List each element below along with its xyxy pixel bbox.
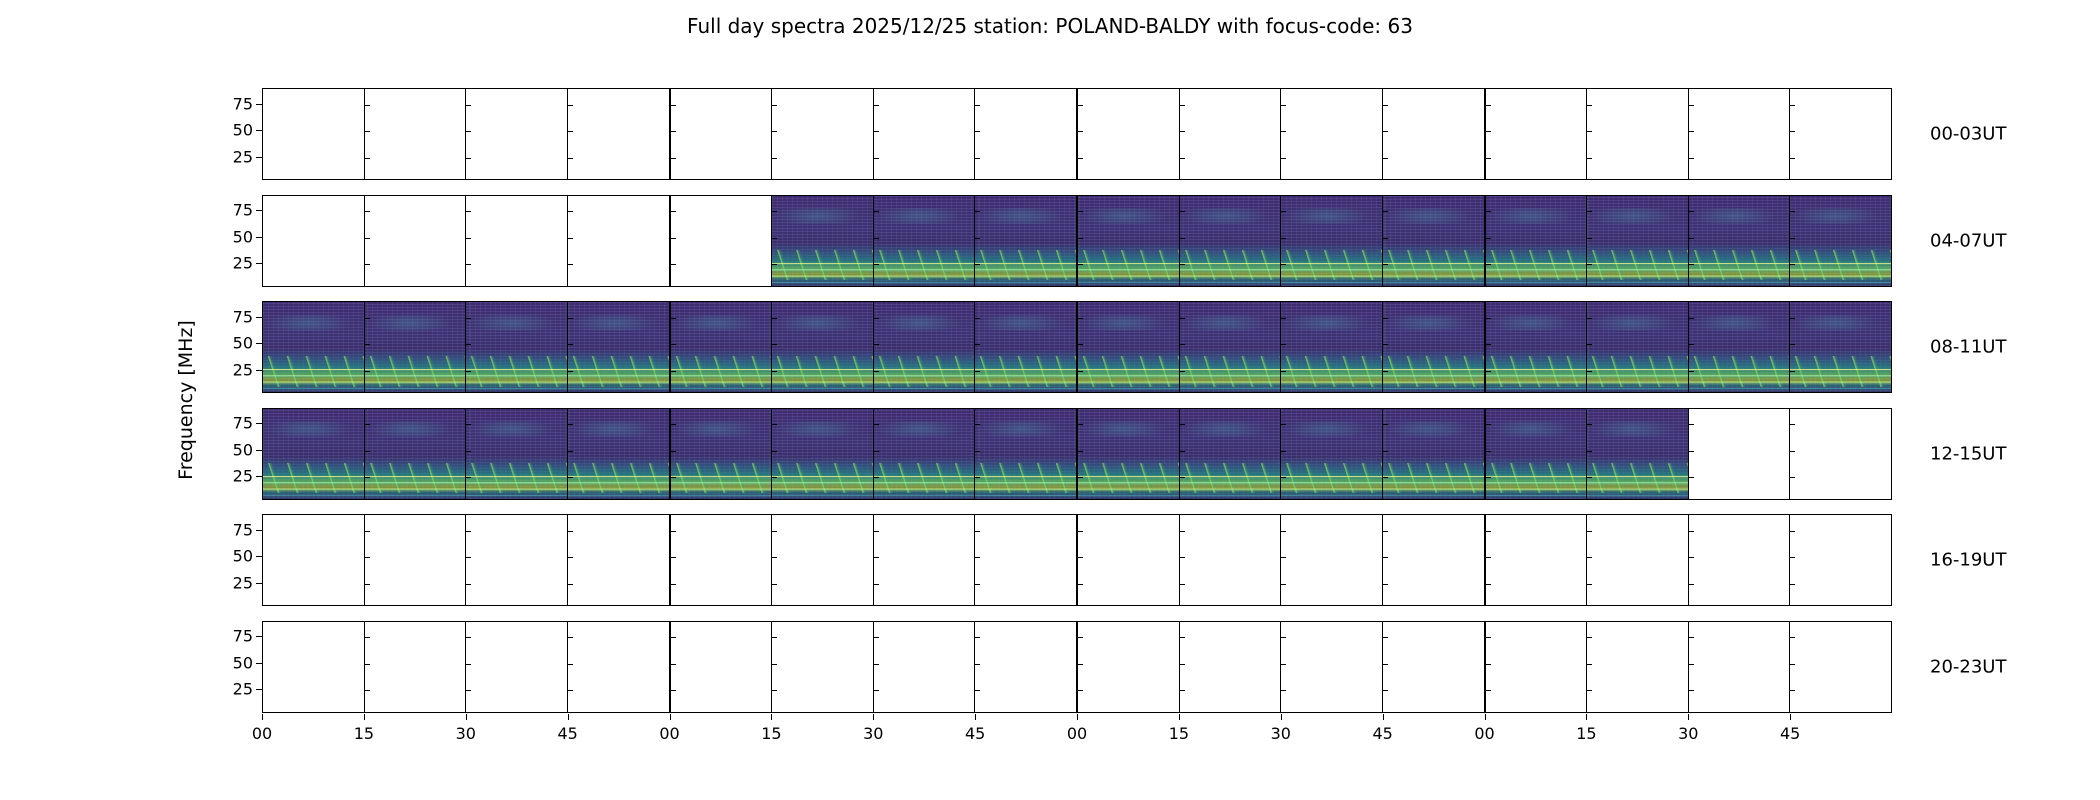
- panel-sweeps-layer: [1180, 250, 1281, 281]
- spectrogram-panel[interactable]: [1689, 409, 1791, 499]
- y-tick-mark: [365, 664, 370, 665]
- spectrogram-panel[interactable]: [1689, 515, 1791, 605]
- spectrogram-panel[interactable]: [1486, 89, 1588, 179]
- panel-streaks-layer: [1180, 259, 1281, 286]
- y-tick-mark: [975, 664, 980, 665]
- spectrogram-panel[interactable]: [1078, 89, 1180, 179]
- y-tick-mark: [256, 689, 262, 690]
- panel-canvas: [568, 515, 669, 605]
- panel-canvas: [1078, 302, 1179, 392]
- panel-haze-layer: [466, 315, 567, 331]
- y-tick-mark: [256, 210, 262, 211]
- y-tick-mark: [466, 211, 471, 212]
- y-tick-mark: [365, 690, 370, 691]
- panel-haze-layer: [1689, 208, 1790, 224]
- y-tick-mark: [975, 105, 980, 106]
- spectrogram-panel[interactable]: [568, 515, 671, 605]
- y-tick-mark: [772, 318, 777, 319]
- spectrogram-panel[interactable]: [1078, 196, 1180, 286]
- spectrogram-panel[interactable]: [568, 622, 671, 712]
- panel-haze-layer: [671, 315, 772, 331]
- y-tick-mark: [1486, 344, 1491, 345]
- spectrogram-panel[interactable]: [568, 196, 671, 286]
- spectrogram-panel[interactable]: [772, 302, 874, 392]
- y-tick-label: 25: [233, 680, 253, 699]
- spectrogram-panel[interactable]: [1790, 196, 1891, 286]
- panel-sweeps-layer: [1790, 250, 1891, 281]
- panel-canvas: [466, 196, 567, 286]
- row-panel-strip: [262, 408, 1892, 500]
- spectrogram-panel[interactable]: [1383, 89, 1486, 179]
- panel-canvas: [1180, 302, 1281, 392]
- spectrogram-panel[interactable]: [263, 89, 365, 179]
- y-tick-mark: [568, 238, 573, 239]
- x-tick-mark: [466, 714, 467, 720]
- spectrogram-panel[interactable]: [1078, 622, 1180, 712]
- y-tick-mark: [1790, 451, 1795, 452]
- spectrogram-panel[interactable]: [263, 409, 365, 499]
- panel-canvas: [1281, 89, 1382, 179]
- panel-sweeps-layer: [365, 356, 466, 387]
- y-tick-mark: [874, 451, 879, 452]
- y-tick-mark: [1689, 664, 1694, 665]
- panel-canvas: [772, 622, 873, 712]
- x-tick-mark: [1485, 714, 1486, 720]
- spectrogram-panel[interactable]: [263, 515, 365, 605]
- y-tick-mark: [975, 264, 980, 265]
- y-tick-mark: [256, 370, 262, 371]
- spectrogram-panel[interactable]: [671, 196, 773, 286]
- panel-canvas: [1689, 622, 1790, 712]
- panel-canvas: [1486, 302, 1587, 392]
- panel-streaks-layer: [466, 472, 567, 499]
- panel-canvas: [671, 196, 772, 286]
- panel-canvas: [568, 196, 669, 286]
- y-tick-label: 75: [233, 307, 253, 326]
- y-tick-mark: [1486, 238, 1491, 239]
- spectrogram-panel[interactable]: [671, 302, 773, 392]
- panel-canvas: [671, 89, 772, 179]
- spectrogram-panel[interactable]: [671, 89, 773, 179]
- y-tick-mark: [1180, 690, 1185, 691]
- y-tick-mark: [466, 238, 471, 239]
- panel-haze-layer: [874, 421, 975, 437]
- panel-streaks-layer: [1281, 472, 1382, 499]
- panel-haze-layer: [975, 315, 1076, 331]
- spectrogram-panel[interactable]: [1587, 302, 1689, 392]
- row-time-label: 12-15UT: [1930, 443, 2006, 464]
- panel-canvas: [1078, 409, 1179, 499]
- spectrogram-panel[interactable]: [1078, 409, 1180, 499]
- spectrogram-panel[interactable]: [874, 409, 976, 499]
- page-title: Full day spectra 2025/12/25 station: POL…: [0, 14, 2100, 38]
- panel-canvas: [1689, 89, 1790, 179]
- x-tick-mark: [1077, 714, 1078, 720]
- spectrogram-panel[interactable]: [1587, 89, 1689, 179]
- y-tick-mark: [256, 663, 262, 664]
- spectrogram-panel[interactable]: [1180, 89, 1282, 179]
- y-tick-mark: [365, 451, 370, 452]
- row-panel-strip: [262, 195, 1892, 287]
- panel-canvas: [1790, 302, 1891, 392]
- x-tick-mark: [1281, 714, 1282, 720]
- panel-haze-layer: [1486, 421, 1587, 437]
- panel-sweeps-layer: [1383, 250, 1484, 281]
- y-tick-mark: [1790, 584, 1795, 585]
- panel-streaks-layer: [671, 365, 772, 392]
- spectrogram-panel[interactable]: [1790, 622, 1891, 712]
- panel-canvas: [975, 302, 1076, 392]
- panel-haze-layer: [1587, 421, 1688, 437]
- panel-canvas: [1486, 622, 1587, 712]
- spectrogram-panel[interactable]: [1180, 515, 1282, 605]
- y-tick-mark: [874, 158, 879, 159]
- y-tick-label: 50: [233, 440, 253, 459]
- spectrogram-panel[interactable]: [772, 409, 874, 499]
- y-tick-mark: [1689, 158, 1694, 159]
- spectrogram-panel[interactable]: [365, 302, 467, 392]
- spectrogram-panel[interactable]: [263, 196, 365, 286]
- y-tick-mark: [466, 690, 471, 691]
- spectrogram-panel[interactable]: [1790, 302, 1891, 392]
- y-tick-mark: [1587, 451, 1592, 452]
- spectrogram-panel[interactable]: [1587, 409, 1689, 499]
- y-tick-mark: [1383, 637, 1388, 638]
- spectrogram-panel[interactable]: [365, 409, 467, 499]
- y-tick-mark: [1078, 664, 1083, 665]
- panel-haze-layer: [1281, 208, 1382, 224]
- panel-canvas: [975, 89, 1076, 179]
- y-tick-mark: [1587, 238, 1592, 239]
- panel-canvas: [365, 515, 466, 605]
- panel-canvas: [874, 196, 975, 286]
- panel-canvas: [568, 302, 669, 392]
- spectrogram-panel[interactable]: [975, 409, 1078, 499]
- spectrogram-panel[interactable]: [1587, 196, 1689, 286]
- y-tick-mark: [975, 424, 980, 425]
- x-tick-mark: [1179, 714, 1180, 720]
- y-tick-mark: [1078, 557, 1083, 558]
- x-axis: 00153045001530450015304500153045: [262, 714, 1892, 754]
- y-tick-mark: [568, 584, 573, 585]
- panel-canvas: [1383, 515, 1484, 605]
- y-tick-mark: [975, 690, 980, 691]
- spectrogram-panel[interactable]: [1281, 622, 1383, 712]
- panel-canvas: [772, 302, 873, 392]
- y-tick-mark: [365, 238, 370, 239]
- spectrogram-panel[interactable]: [671, 622, 773, 712]
- y-tick-mark: [1078, 238, 1083, 239]
- panel-haze-layer: [1486, 315, 1587, 331]
- spectrogram-panel[interactable]: [1790, 409, 1891, 499]
- y-tick-mark: [874, 664, 879, 665]
- y-tick-mark: [1587, 264, 1592, 265]
- panel-streaks-layer: [1587, 472, 1688, 499]
- y-tick-mark: [1486, 424, 1491, 425]
- panel-sweeps-layer: [975, 250, 1076, 281]
- y-tick-mark: [256, 556, 262, 557]
- spectrogram-panel[interactable]: [975, 515, 1078, 605]
- panel-canvas: [975, 622, 1076, 712]
- spectrogram-panel[interactable]: [975, 196, 1078, 286]
- spectrogram-panel[interactable]: [1587, 515, 1689, 605]
- spectrogram-panel[interactable]: [466, 622, 568, 712]
- panel-canvas: [1180, 515, 1281, 605]
- panel-streaks-layer: [1587, 365, 1688, 392]
- spectrogram-panel[interactable]: [772, 622, 874, 712]
- y-tick-mark: [365, 584, 370, 585]
- y-tick-mark: [1383, 105, 1388, 106]
- spectrogram-panel[interactable]: [975, 302, 1078, 392]
- y-tick-mark: [1383, 531, 1388, 532]
- spectrogram-panel[interactable]: [1281, 302, 1383, 392]
- panel-canvas: [263, 89, 364, 179]
- panel-canvas: [1587, 302, 1688, 392]
- spectrogram-panel[interactable]: [466, 409, 568, 499]
- panel-canvas: [1281, 409, 1382, 499]
- spectrogram-panel[interactable]: [1281, 196, 1383, 286]
- y-tick-mark: [1078, 264, 1083, 265]
- y-tick-mark: [466, 664, 471, 665]
- panel-haze-layer: [1180, 208, 1281, 224]
- panel-haze-layer: [772, 208, 873, 224]
- panel-canvas: [1790, 196, 1891, 286]
- panel-canvas: [365, 89, 466, 179]
- panel-streaks-layer: [1790, 259, 1891, 286]
- panel-canvas: [671, 409, 772, 499]
- spectrogram-panel[interactable]: [1383, 196, 1486, 286]
- y-tick-mark: [1180, 105, 1185, 106]
- y-tick-mark: [256, 237, 262, 238]
- y-tick-mark: [975, 371, 980, 372]
- spectrogram-panel[interactable]: [975, 89, 1078, 179]
- panel-canvas: [1281, 515, 1382, 605]
- y-tick-mark: [1383, 158, 1388, 159]
- y-tick-mark: [1281, 637, 1286, 638]
- y-tick-mark: [772, 131, 777, 132]
- panel-sweeps-layer: [1180, 356, 1281, 387]
- spectrogram-panel[interactable]: [1180, 622, 1282, 712]
- spectrogram-panel[interactable]: [874, 89, 976, 179]
- panel-sweeps-layer: [1281, 463, 1382, 494]
- panel-canvas: [1486, 89, 1587, 179]
- spectrogram-panel[interactable]: [1790, 89, 1891, 179]
- y-tick-mark: [1689, 264, 1694, 265]
- spectrogram-panel[interactable]: [1486, 302, 1588, 392]
- panel-haze-layer: [568, 421, 669, 437]
- spectrogram-panel[interactable]: [1180, 196, 1282, 286]
- panel-haze-layer: [1383, 208, 1484, 224]
- spectrogram-panel[interactable]: [1180, 409, 1282, 499]
- y-tick-mark: [1078, 451, 1083, 452]
- y-tick-mark: [772, 584, 777, 585]
- y-tick-mark: [975, 557, 980, 558]
- spectrogram-panel[interactable]: [671, 515, 773, 605]
- panel-canvas: [466, 89, 567, 179]
- spectrogram-panel[interactable]: [1486, 409, 1588, 499]
- y-tick-mark: [671, 451, 676, 452]
- y-tick-mark: [1587, 371, 1592, 372]
- spectrogram-panel[interactable]: [466, 196, 568, 286]
- panel-streaks-layer: [568, 365, 669, 392]
- spectrogram-panel[interactable]: [568, 89, 671, 179]
- spectrogram-panel[interactable]: [671, 409, 773, 499]
- panel-sweeps-layer: [1078, 463, 1179, 494]
- spectrogram-panel[interactable]: [1383, 409, 1486, 499]
- spectrogram-panel[interactable]: [568, 302, 671, 392]
- y-tick-mark: [975, 477, 980, 478]
- y-tick-mark: [1587, 105, 1592, 106]
- panel-streaks-layer: [874, 259, 975, 286]
- y-tick-mark: [1281, 424, 1286, 425]
- spectrogram-panel[interactable]: [874, 302, 976, 392]
- y-tick-mark: [1078, 105, 1083, 106]
- spectrogram-panel[interactable]: [1689, 302, 1791, 392]
- y-tick-mark: [975, 637, 980, 638]
- panel-canvas: [1790, 409, 1891, 499]
- spectrogram-panel[interactable]: [772, 196, 874, 286]
- panel-streaks-layer: [1078, 472, 1179, 499]
- panel-canvas: [1180, 622, 1281, 712]
- panel-canvas: [1078, 622, 1179, 712]
- y-tick-mark: [365, 371, 370, 372]
- panel-sweeps-layer: [1383, 463, 1484, 494]
- row-time-label: 20-23UT: [1930, 656, 2006, 677]
- x-tick-label: 15: [354, 724, 374, 743]
- spectrogram-panel[interactable]: [1383, 622, 1486, 712]
- panel-haze-layer: [874, 208, 975, 224]
- panel-canvas: [1383, 302, 1484, 392]
- panel-streaks-layer: [1689, 259, 1790, 286]
- spectrogram-row: 75502508-11UT: [262, 301, 1892, 393]
- y-tick-mark: [772, 531, 777, 532]
- y-tick-mark: [466, 158, 471, 159]
- panel-sweeps-layer: [1078, 356, 1179, 387]
- spectrogram-panel[interactable]: [1587, 622, 1689, 712]
- spectrogram-panel[interactable]: [466, 89, 568, 179]
- spectrogram-panel[interactable]: [263, 302, 365, 392]
- spectrogram-panel[interactable]: [1486, 622, 1588, 712]
- panel-canvas: [568, 409, 669, 499]
- spectrogram-panel[interactable]: [772, 515, 874, 605]
- y-tick-mark: [1383, 318, 1388, 319]
- spectrogram-panel[interactable]: [263, 622, 365, 712]
- spectrogram-panel[interactable]: [466, 302, 568, 392]
- y-tick-mark: [874, 531, 879, 532]
- panel-sweeps-layer: [975, 356, 1076, 387]
- spectrogram-panel[interactable]: [466, 515, 568, 605]
- y-tick-mark: [1180, 344, 1185, 345]
- panel-haze-layer: [1486, 208, 1587, 224]
- y-tick-mark: [466, 451, 471, 452]
- spectrogram-panel[interactable]: [874, 196, 976, 286]
- panel-sweeps-layer: [466, 356, 567, 387]
- spectrogram-panel[interactable]: [568, 409, 671, 499]
- x-tick-mark: [364, 714, 365, 720]
- panel-canvas: [874, 89, 975, 179]
- panel-streaks-layer: [1281, 365, 1382, 392]
- spectrogram-panel[interactable]: [365, 196, 467, 286]
- spectrogram-panel[interactable]: [874, 622, 976, 712]
- spectrogram-panel[interactable]: [1689, 196, 1791, 286]
- panel-canvas: [874, 622, 975, 712]
- panel-canvas: [1180, 409, 1281, 499]
- y-tick-mark: [874, 690, 879, 691]
- x-tick-mark: [1586, 714, 1587, 720]
- spectrogram-panel[interactable]: [1689, 89, 1791, 179]
- spectrogram-panel[interactable]: [365, 89, 467, 179]
- spectrogram-panel[interactable]: [1180, 302, 1282, 392]
- spectrogram-panel[interactable]: [1689, 622, 1791, 712]
- y-tick-mark: [466, 424, 471, 425]
- panel-canvas: [772, 196, 873, 286]
- y-tick-label: 25: [233, 360, 253, 379]
- y-tick-mark: [568, 424, 573, 425]
- y-tick-mark: [1486, 690, 1491, 691]
- spectrogram-panel[interactable]: [1078, 515, 1180, 605]
- spectrogram-panel[interactable]: [1078, 302, 1180, 392]
- y-tick-mark: [256, 636, 262, 637]
- spectrogram-panel[interactable]: [975, 622, 1078, 712]
- spectrogram-panel[interactable]: [1790, 515, 1891, 605]
- spectrogram-panel[interactable]: [1486, 515, 1588, 605]
- y-tick-mark: [1383, 451, 1388, 452]
- spectrogram-panel[interactable]: [365, 515, 467, 605]
- panel-streaks-layer: [1078, 259, 1179, 286]
- panel-canvas: [1790, 515, 1891, 605]
- spectrogram-panel[interactable]: [1281, 89, 1383, 179]
- panel-haze-layer: [1281, 421, 1382, 437]
- panel-canvas: [1180, 89, 1281, 179]
- spectrogram-panel[interactable]: [1383, 515, 1486, 605]
- spectrogram-panel[interactable]: [1486, 196, 1588, 286]
- y-tick-mark: [1383, 690, 1388, 691]
- spectrogram-panel[interactable]: [1281, 515, 1383, 605]
- panel-streaks-layer: [1180, 365, 1281, 392]
- panel-sweeps-layer: [1689, 250, 1790, 281]
- panel-canvas: [874, 409, 975, 499]
- panel-canvas: [263, 196, 364, 286]
- spectrogram-panel[interactable]: [1383, 302, 1486, 392]
- panel-canvas: [365, 409, 466, 499]
- y-tick-mark: [466, 344, 471, 345]
- panel-sweeps-layer: [1281, 356, 1382, 387]
- panel-haze-layer: [1383, 421, 1484, 437]
- panel-streaks-layer: [1281, 259, 1382, 286]
- y-tick-mark: [874, 211, 879, 212]
- panel-haze-layer: [1281, 315, 1382, 331]
- y-tick-mark: [466, 557, 471, 558]
- spectrogram-panel[interactable]: [772, 89, 874, 179]
- y-tick-mark: [874, 371, 879, 372]
- spectrogram-panel[interactable]: [1281, 409, 1383, 499]
- y-tick-mark: [568, 158, 573, 159]
- panel-canvas: [874, 302, 975, 392]
- panel-sweeps-layer: [1486, 356, 1587, 387]
- spectrogram-row: 75502516-19UT: [262, 514, 1892, 606]
- y-tick-mark: [466, 584, 471, 585]
- y-tick-mark: [466, 318, 471, 319]
- y-tick-mark: [1281, 371, 1286, 372]
- spectrogram-panel[interactable]: [874, 515, 976, 605]
- y-tick-mark: [1689, 531, 1694, 532]
- y-tick-mark: [671, 264, 676, 265]
- panel-canvas: [1078, 515, 1179, 605]
- spectrogram-panel[interactable]: [365, 622, 467, 712]
- panel-canvas: [1383, 89, 1484, 179]
- y-tick-mark: [1281, 557, 1286, 558]
- panel-haze-layer: [671, 421, 772, 437]
